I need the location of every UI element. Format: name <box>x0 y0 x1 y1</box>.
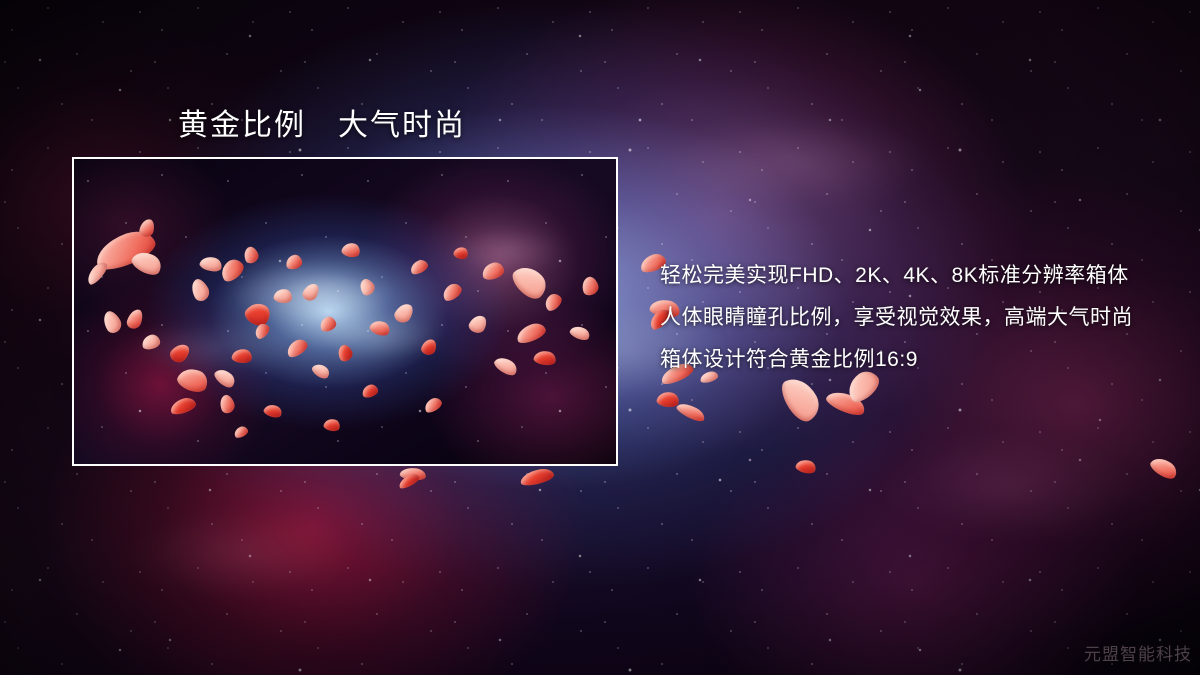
description-line-1: 轻松完美实现FHD、2K、4K、8K标准分辨率箱体 <box>660 255 1160 297</box>
description-line-3: 箱体设计符合黄金比例16:9 <box>660 339 1160 381</box>
description-text-block: 轻松完美实现FHD、2K、4K、8K标准分辨率箱体 人体眼睛瞳孔比例，享受视觉效… <box>660 255 1160 381</box>
description-line-2: 人体眼睛瞳孔比例，享受视觉效果，高端大气时尚 <box>660 297 1160 339</box>
inner-starfield <box>74 159 616 464</box>
slide-canvas: 黄金比例 大气时尚 轻松完美实现FHD、2K、4K、8K标准分辨率箱体 人体眼睛… <box>0 0 1200 675</box>
watermark-label: 元盟智能科技 <box>1084 640 1192 665</box>
framed-nebula-petals-image[interactable] <box>72 157 618 466</box>
page-title: 黄金比例 大气时尚 <box>178 100 466 144</box>
